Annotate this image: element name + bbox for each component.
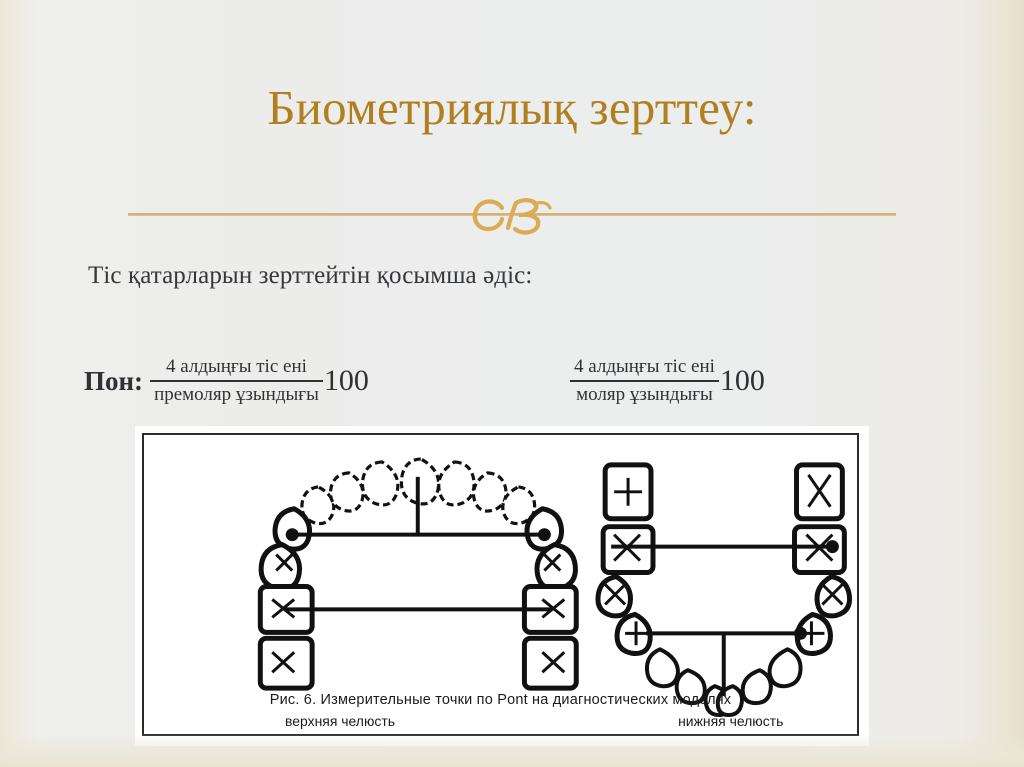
title-block: Биометриялық зерттеу: <box>0 83 1024 134</box>
lower-jaw-label: нижняя челюсть <box>678 713 783 729</box>
measurement-point <box>826 540 839 553</box>
multiplier-value: 100 <box>720 364 765 398</box>
page-title: Биометриялық зерттеу: <box>0 83 1024 134</box>
title-divider <box>128 198 896 236</box>
cb-flourish-ornament <box>464 194 560 240</box>
fraction-numerator: 4 алдыңғы тіс ені <box>570 356 719 378</box>
fraction-premolar: 4 алдыңғы тіс ені премоляр ұзындығы <box>150 356 323 406</box>
fraction-numerator: 4 алдыңғы тіс ені <box>162 356 311 378</box>
figure-frame: верхняя челюсть нижняя челюсть Рис. 6. И… <box>135 426 869 746</box>
upper-jaw-dental-arch <box>260 459 576 688</box>
figure-caption: Рис. 6. Измерительные точки по Pont на д… <box>144 692 857 708</box>
measurement-point <box>538 528 551 541</box>
upper-jaw-label: верхняя челюсть <box>285 713 395 729</box>
fraction-molar: 4 алдыңғы тіс ені моляр ұзындығы <box>570 356 719 406</box>
measurement-point <box>286 528 299 541</box>
dental-diagram-svg: верхняя челюсть нижняя челюсть <box>144 435 857 734</box>
presentation-slide: Биометриялық зерттеу: Тіс қатарларын зер… <box>0 0 1024 767</box>
multiplier-value: 100 <box>324 364 369 398</box>
lower-jaw-dental-arch <box>598 465 850 715</box>
fraction-bar <box>570 380 719 382</box>
fraction-bar <box>150 380 323 382</box>
measurement-point <box>794 627 807 640</box>
fraction-denominator: премоляр ұзындығы <box>150 384 323 406</box>
formula-premolar: Пон: 4 алдыңғы тіс ені премоляр ұзындығы… <box>84 356 369 406</box>
formula-molar: 4 алдыңғы тіс ені моляр ұзындығы 100 <box>570 356 765 406</box>
body-text: Тіс қатарларын зерттейтін қосымша әдіс: <box>88 262 532 290</box>
figure-inner-border: верхняя челюсть нижняя челюсть Рис. 6. И… <box>142 433 859 736</box>
pon-label: Пон: <box>84 366 143 397</box>
formula-row: Пон: 4 алдыңғы тіс ені премоляр ұзындығы… <box>84 356 884 424</box>
fraction-denominator: моляр ұзындығы <box>572 384 717 406</box>
